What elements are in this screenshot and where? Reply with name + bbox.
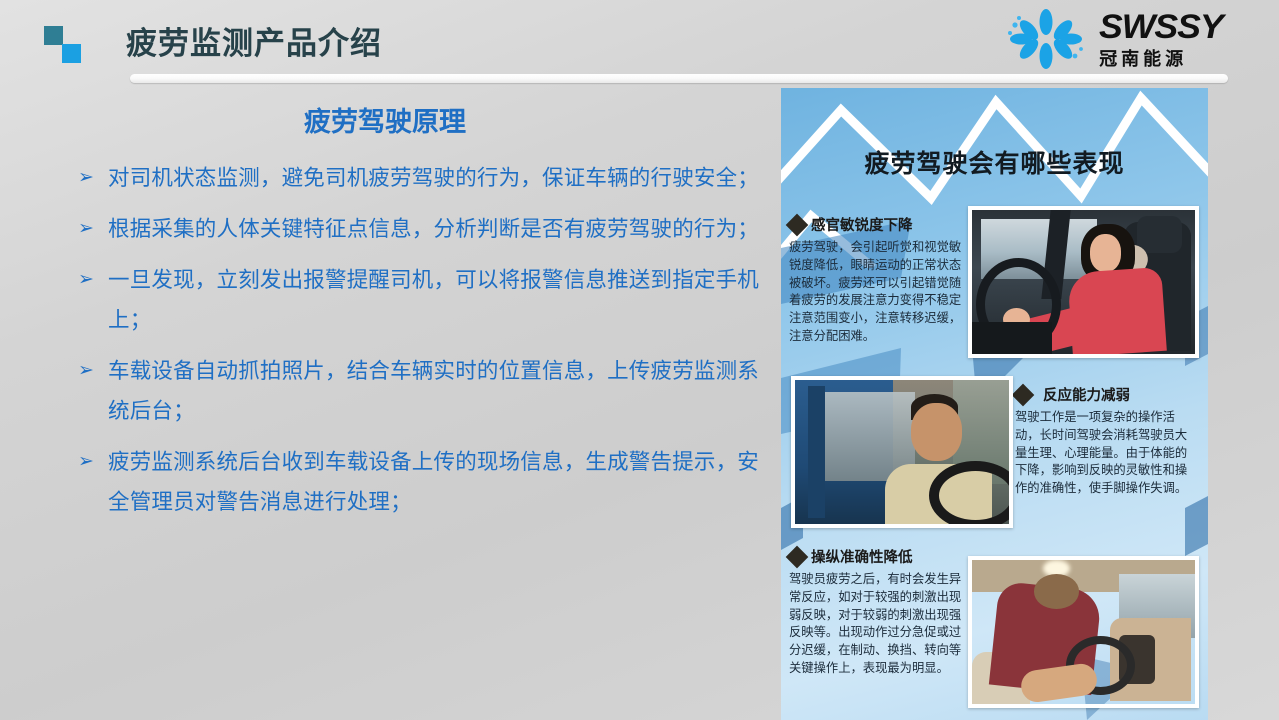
logo-text: SWSSY 冠南能源: [1099, 10, 1217, 68]
list-item: ➢ 根据采集的人体关键特征点信息，分析判断是否有疲劳驾驶的行为；: [78, 209, 768, 249]
woman-driver-photo: [968, 206, 1199, 358]
arrow-bullet-icon: ➢: [78, 351, 108, 391]
infographic-title: 疲劳驾驶会有哪些表现: [781, 144, 1208, 180]
list-item-text: 疲劳监测系统后台收到车载设备上传的现场信息，生成警告提示，安全管理员对警告消息进…: [108, 442, 768, 522]
water-droplet-flower-icon: [1003, 8, 1089, 70]
list-item: ➢ 一旦发现，立刻发出报警提醒司机，可以将报警信息推送到指定手机上；: [78, 260, 768, 340]
section-body: 驾驶员疲劳之后，有时会发生异常反应，如对于较强的刺激出现弱反映，对于较弱的刺激出…: [789, 571, 964, 678]
diamond-bullet-icon: [1012, 383, 1035, 406]
arrow-bullet-icon: ➢: [78, 442, 108, 482]
list-item-text: 一旦发现，立刻发出报警提醒司机，可以将报警信息推送到指定手机上；: [108, 260, 768, 340]
diamond-bullet-icon: [786, 213, 809, 236]
square-dark: [44, 26, 63, 45]
section-body: 疲劳驾驶，会引起听觉和视觉敏锐度降低，眼睛运动的正常状态被破坏。疲劳还可以引起错…: [789, 239, 964, 346]
tired-truck-driver-photo: [791, 376, 1013, 528]
section-heading: 感官敏锐度下降: [789, 214, 964, 235]
driver-asleep-on-wheel-photo: [968, 556, 1199, 708]
logo-company-name: 冠南能源: [1099, 50, 1217, 68]
company-logo: SWSSY 冠南能源: [1003, 8, 1217, 70]
list-item: ➢ 对司机状态监测，避免司机疲劳驾驶的行为，保证车辆的行驶安全；: [78, 158, 768, 198]
infographic-section-1: 感官敏锐度下降 疲劳驾驶，会引起听觉和视觉敏锐度降低，眼睛运动的正常状态被破坏。…: [789, 214, 964, 346]
list-item-text: 车载设备自动抓拍照片，结合车辆实时的位置信息，上传疲劳监测系统后台；: [108, 351, 768, 431]
section-heading: 反应能力减弱: [1015, 384, 1195, 405]
section-heading: 操纵准确性降低: [789, 546, 964, 567]
arrow-bullet-icon: ➢: [78, 209, 108, 249]
list-item-text: 对司机状态监测，避免司机疲劳驾驶的行为，保证车辆的行驶安全；: [108, 158, 768, 198]
infographic-section-3: 操纵准确性降低 驾驶员疲劳之后，有时会发生异常反应，如对于较强的刺激出现弱反映，…: [789, 546, 964, 678]
arrow-bullet-icon: ➢: [78, 158, 108, 198]
page-title: 疲劳监测产品介绍: [126, 18, 382, 63]
list-item-text: 根据采集的人体关键特征点信息，分析判断是否有疲劳驾驶的行为；: [108, 209, 768, 249]
section-title: 感官敏锐度下降: [811, 214, 913, 235]
square-light: [62, 44, 81, 63]
section-title: 操纵准确性降低: [811, 546, 913, 567]
logo-wordmark: SWSSY: [1099, 10, 1223, 44]
infographic-panel: 疲劳驾驶会有哪些表现 感官敏锐度下降 疲劳驾驶，会引起听觉和视觉敏锐度降低，眼睛…: [781, 88, 1208, 720]
arrow-bullet-icon: ➢: [78, 260, 108, 300]
slide-header: 疲劳监测产品介绍: [0, 0, 1279, 86]
slide: 疲劳监测产品介绍: [0, 0, 1279, 720]
bullet-list: ➢ 对司机状态监测，避免司机疲劳驾驶的行为，保证车辆的行驶安全； ➢ 根据采集的…: [78, 158, 768, 533]
list-item: ➢ 疲劳监测系统后台收到车载设备上传的现场信息，生成警告提示，安全管理员对警告消…: [78, 442, 768, 522]
diamond-bullet-icon: [786, 545, 809, 568]
header-divider: [130, 74, 1228, 83]
section-body: 驾驶工作是一项复杂的操作活动，长时间驾驶会消耗驾驶员大量生理、心理能量。由于体能…: [1015, 409, 1195, 498]
infographic-section-2: 反应能力减弱 驾驶工作是一项复杂的操作活动，长时间驾驶会消耗驾驶员大量生理、心理…: [1015, 384, 1195, 498]
section-title: 反应能力减弱: [1043, 384, 1130, 405]
two-squares-icon: [44, 26, 88, 66]
list-item: ➢ 车载设备自动抓拍照片，结合车辆实时的位置信息，上传疲劳监测系统后台；: [78, 351, 768, 431]
content-title: 疲劳驾驶原理: [0, 100, 770, 139]
